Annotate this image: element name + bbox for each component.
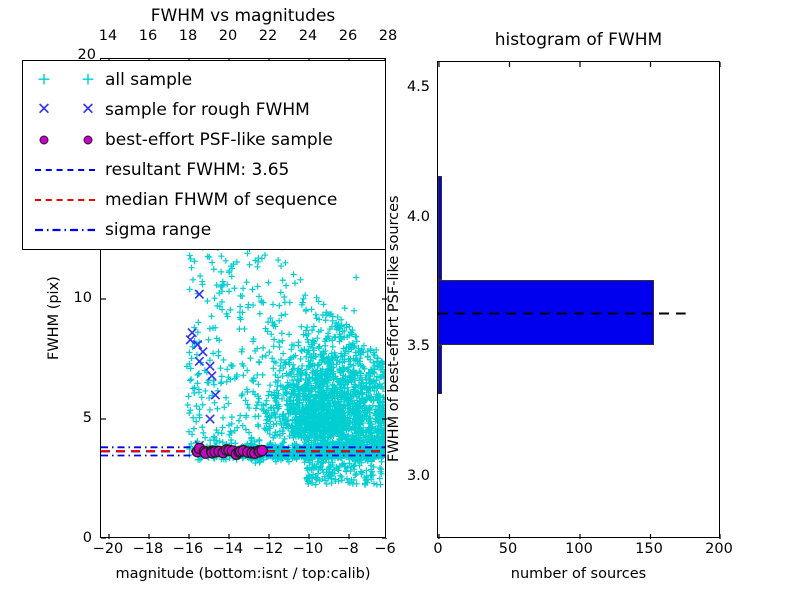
legend-item-median-fwhm: median FHWM of sequence — [27, 185, 385, 215]
scatter-xlabel: magnitude (bottom:isnt / top:calib) — [100, 566, 386, 582]
scatter-xticklabel: −14 — [208, 541, 248, 557]
histogram-xlabel: number of sources — [437, 566, 720, 582]
scatter-xticklabel: −12 — [248, 541, 288, 557]
legend-label: median FHWM of sequence — [105, 190, 337, 210]
histogram-xticklabel: 100 — [559, 541, 599, 557]
top-ticklabel: 18 — [173, 28, 203, 44]
top-ticklabel: 16 — [133, 28, 163, 44]
scatter-title: FWHM vs magnitudes — [100, 6, 386, 26]
filled-circle-icon — [40, 136, 49, 145]
legend-item-sigma-range: sigma range — [27, 215, 385, 245]
histogram-xticklabel: 200 — [699, 541, 739, 557]
scatter-yticklabel: 10 — [60, 290, 92, 306]
dashed-line-icon — [35, 199, 95, 201]
top-ticklabel: 28 — [373, 28, 403, 44]
legend-item-resultant-fwhm: resultant FWHM: 3.65 — [27, 155, 385, 185]
legend-item-all-sample: + + all sample — [27, 65, 385, 95]
histogram-title: histogram of FWHM — [437, 30, 720, 50]
top-ticklabel: 14 — [93, 28, 123, 44]
legend-label: sample for rough FWHM — [105, 100, 310, 120]
histogram-axes-frame — [437, 61, 720, 538]
scatter-xticklabel: −6 — [365, 541, 405, 557]
scatter-yticklabel: 5 — [60, 410, 92, 426]
top-ticklabel: 22 — [253, 28, 283, 44]
legend-marker-area: ✕ ✕ — [27, 95, 105, 125]
histogram-xticklabel: 50 — [488, 541, 528, 557]
legend-label: best-effort PSF-like sample — [105, 130, 333, 150]
legend-label: resultant FWHM: 3.65 — [105, 160, 289, 180]
plus-icon: + — [81, 72, 95, 89]
histogram-xticklabel: 0 — [418, 541, 458, 557]
plus-icon: + — [37, 72, 51, 89]
histogram-xticklabel: 150 — [629, 541, 669, 557]
legend-marker-area — [27, 155, 105, 185]
histogram-ylabel: FWHM of best-effort PSF-like sources — [386, 195, 402, 462]
top-ticklabel: 26 — [333, 28, 363, 44]
filled-circle-icon — [84, 136, 93, 145]
scatter-ylabel: FWHM (pix) — [46, 276, 62, 360]
cross-icon: ✕ — [37, 102, 51, 119]
histogram-yticklabel: 3.0 — [392, 468, 430, 484]
legend-marker-area — [27, 215, 105, 245]
cross-icon: ✕ — [81, 102, 95, 119]
scatter-xticklabel: −18 — [128, 541, 168, 557]
scatter-xticklabel: −10 — [288, 541, 328, 557]
dash-dot-line-icon — [27, 215, 105, 245]
scatter-xticklabel: −16 — [168, 541, 208, 557]
top-ticklabel: 20 — [213, 28, 243, 44]
histogram-yticklabel: 4.5 — [392, 79, 430, 95]
legend-item-psf-like: best-effort PSF-like sample — [27, 125, 385, 155]
legend-label: all sample — [105, 70, 192, 90]
top-ticklabel: 24 — [293, 28, 323, 44]
scatter-xticklabel: −20 — [88, 541, 128, 557]
legend-marker-area — [27, 185, 105, 215]
legend-label: sigma range — [105, 220, 211, 240]
legend: + + all sample ✕ ✕ sample for rough FWHM… — [22, 60, 386, 250]
legend-item-rough-fwhm: ✕ ✕ sample for rough FWHM — [27, 95, 385, 125]
legend-marker-area — [27, 125, 105, 155]
dashed-line-icon — [35, 169, 95, 171]
scatter-xticklabel: −8 — [328, 541, 368, 557]
figure-canvas: FWHM vs magnitudes 14 16 18 20 22 24 26 … — [0, 0, 800, 600]
legend-marker-area: + + — [27, 65, 105, 95]
histogram-tick-layer — [438, 62, 721, 539]
